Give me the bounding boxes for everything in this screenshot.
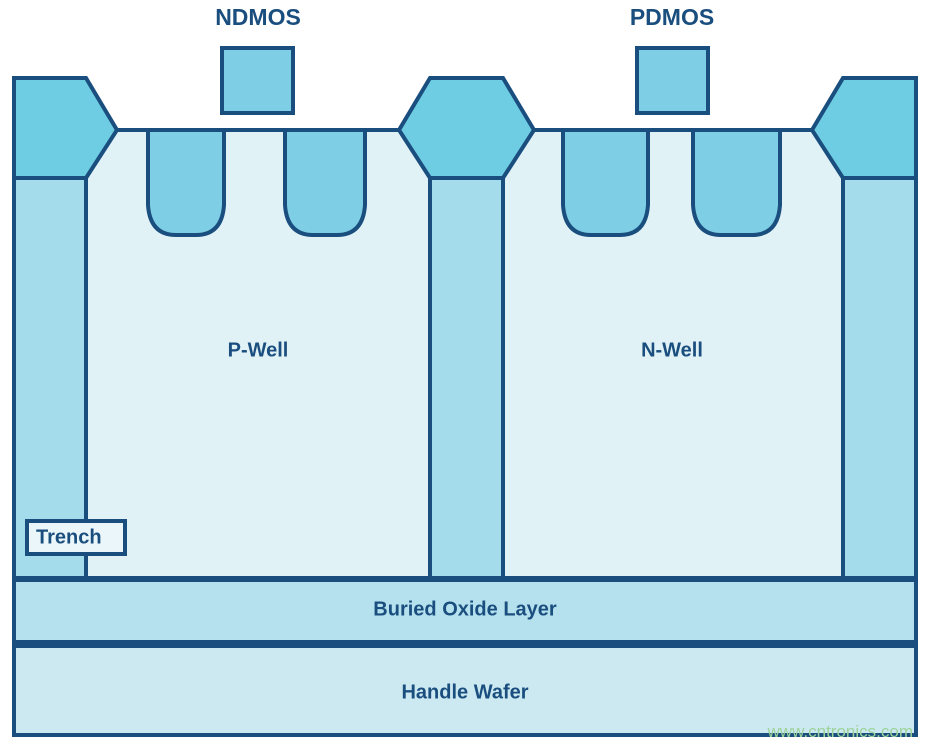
diffusion-pdmos-source — [563, 130, 648, 235]
buried-oxide-label: Buried Oxide Layer — [373, 598, 557, 620]
n-well-label: N-Well — [641, 339, 703, 361]
ndmos-title: NDMOS — [215, 4, 301, 30]
site-watermark: www.cntronics.com — [767, 722, 913, 741]
trench-column-left — [14, 176, 86, 578]
cross-section-svg: NDMOS PDMOS P-Well N-Well Trench Buried … — [0, 0, 930, 750]
trench-label: Trench — [36, 526, 102, 548]
handle-wafer-label: Handle Wafer — [401, 681, 528, 703]
trench-column-right — [843, 176, 916, 578]
p-well-label: P-Well — [228, 339, 289, 361]
pdmos-title: PDMOS — [630, 4, 714, 30]
diffusion-pdmos-drain — [693, 130, 780, 235]
diffusion-ndmos-drain — [285, 130, 365, 235]
diffusion-ndmos-source — [148, 130, 224, 235]
semiconductor-cross-section-diagram: NDMOS PDMOS P-Well N-Well Trench Buried … — [0, 0, 930, 750]
trench-cap-center — [399, 78, 534, 178]
gate-electrode-pdmos — [637, 48, 708, 113]
gate-electrode-ndmos — [222, 48, 293, 113]
trench-column-center — [430, 176, 503, 578]
